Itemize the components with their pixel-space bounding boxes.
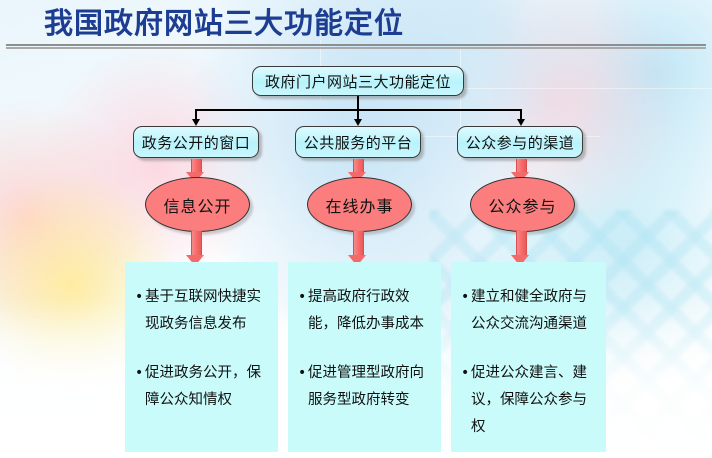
arrow-down-right-icon bbox=[517, 119, 525, 126]
function-ellipse-2[interactable]: 在线办事 bbox=[307, 177, 412, 232]
detail-item: •基于互联网快捷实现政务信息发布 bbox=[135, 284, 266, 338]
role-box-3-label: 公众参与的渠道 bbox=[466, 132, 575, 153]
arrow-down-left-icon bbox=[192, 119, 200, 126]
detail-item: •促进政务公开，保障公众知情权 bbox=[135, 360, 266, 414]
detail-text: 促进公众建言、建议，保障公众参与权 bbox=[471, 365, 587, 435]
function-ellipse-3-label: 公众参与 bbox=[488, 193, 556, 217]
role-box-1[interactable]: 政务公开的窗口 bbox=[133, 126, 259, 158]
slide-canvas: 我国政府网站三大功能定位 政府门户网站三大功能定位 政务公开的窗口 公共服务的平… bbox=[0, 0, 712, 458]
page-title: 我国政府网站三大功能定位 bbox=[44, 4, 404, 42]
bullet-icon: • bbox=[298, 360, 306, 387]
detail-text: 建立和健全政府与公众交流沟通渠道 bbox=[471, 289, 587, 332]
arrow-down-center-icon bbox=[354, 119, 362, 126]
detail-text: 基于互联网快捷实现政务信息发布 bbox=[145, 289, 261, 332]
function-ellipse-3[interactable]: 公众参与 bbox=[470, 177, 575, 232]
bullet-icon: • bbox=[135, 284, 143, 311]
bullet-icon: • bbox=[298, 284, 306, 311]
role-box-1-label: 政务公开的窗口 bbox=[142, 132, 251, 153]
detail-item: •提高政府行政效能，降低办事成本 bbox=[298, 284, 429, 338]
detail-box-2: •提高政府行政效能，降低办事成本 •促进管理型政府向服务型政府转变 bbox=[288, 262, 441, 452]
function-ellipse-2-label: 在线办事 bbox=[325, 193, 393, 217]
function-ellipse-1[interactable]: 信息公开 bbox=[145, 177, 250, 232]
bullet-icon: • bbox=[461, 284, 469, 311]
role-box-2[interactable]: 公共服务的平台 bbox=[295, 126, 421, 158]
detail-item: •促进管理型政府向服务型政府转变 bbox=[298, 360, 429, 414]
detail-box-1: •基于互联网快捷实现政务信息发布 •促进政务公开，保障公众知情权 bbox=[125, 262, 278, 452]
root-node[interactable]: 政府门户网站三大功能定位 bbox=[252, 66, 464, 96]
detail-text: 促进管理型政府向服务型政府转变 bbox=[308, 365, 424, 408]
title-bar: 我国政府网站三大功能定位 bbox=[0, 0, 712, 52]
detail-box-3: •建立和健全政府与公众交流沟通渠道 •促进公众建言、建议，保障公众参与权 bbox=[451, 262, 606, 452]
detail-item: •建立和健全政府与公众交流沟通渠道 bbox=[461, 284, 594, 338]
bullet-icon: • bbox=[135, 360, 143, 387]
function-ellipse-1-label: 信息公开 bbox=[163, 193, 231, 217]
role-box-3[interactable]: 公众参与的渠道 bbox=[457, 126, 583, 158]
bullet-icon: • bbox=[461, 360, 469, 387]
detail-text: 提高政府行政效能，降低办事成本 bbox=[308, 289, 424, 332]
connector-root-stem bbox=[357, 96, 359, 110]
title-divider bbox=[6, 44, 706, 50]
root-node-label: 政府门户网站三大功能定位 bbox=[265, 71, 451, 92]
detail-text: 促进政务公开，保障公众知情权 bbox=[145, 365, 261, 408]
detail-item: •促进公众建言、建议，保障公众参与权 bbox=[461, 360, 594, 441]
role-box-2-label: 公共服务的平台 bbox=[304, 132, 413, 153]
